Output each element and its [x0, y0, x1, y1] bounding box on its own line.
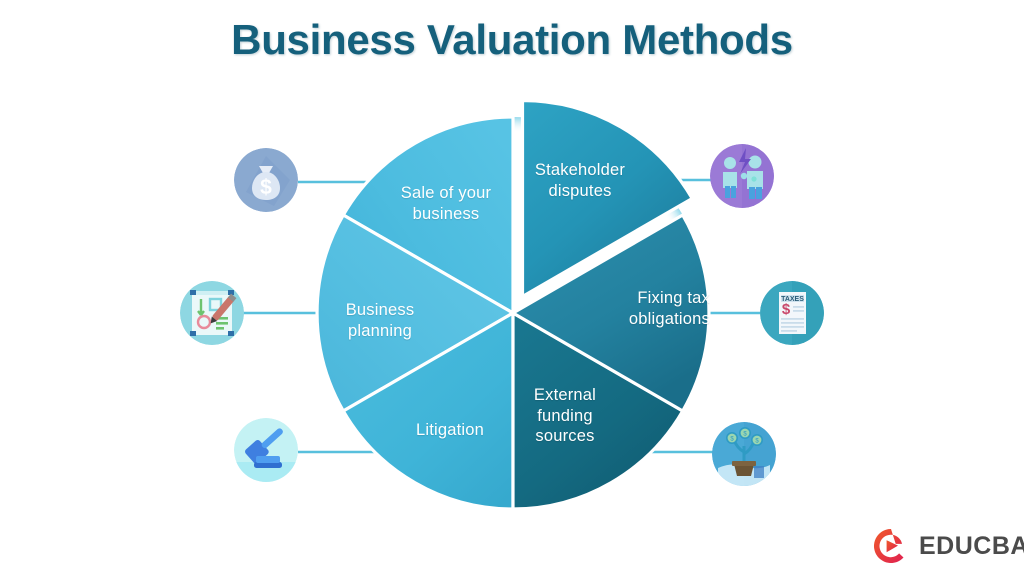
tax-form-icon: TAXES $: [760, 281, 824, 345]
svg-text:$: $: [260, 176, 272, 199]
pie-label-litigation: Litigation: [380, 420, 520, 441]
pie-chart: [0, 0, 1024, 576]
pie-label-stakeholder-disputes: Stakeholder disputes: [505, 160, 655, 201]
gavel-icon: [234, 418, 298, 482]
educba-circle-play-logo: [872, 527, 910, 565]
educba-logo[interactable]: EDUCBA: [872, 527, 1024, 565]
planning-board-icon: [180, 281, 244, 345]
infographic-canvas: Business Valuation Methods: [0, 0, 1024, 576]
pie-label-business-planning: Business planning: [310, 300, 450, 341]
pie-label-sale-of-your-business: Sale of your business: [370, 183, 522, 224]
money-tree-icon: $$$: [712, 422, 776, 486]
pie-label-fixing-tax-obligations: Fixing tax obligations: [560, 288, 710, 329]
educba-wordmark: EDUCBA: [919, 532, 1024, 561]
money-bag-icon: $: [234, 148, 298, 212]
svg-text:$: $: [782, 301, 791, 318]
people-dispute-icon: [710, 144, 774, 208]
